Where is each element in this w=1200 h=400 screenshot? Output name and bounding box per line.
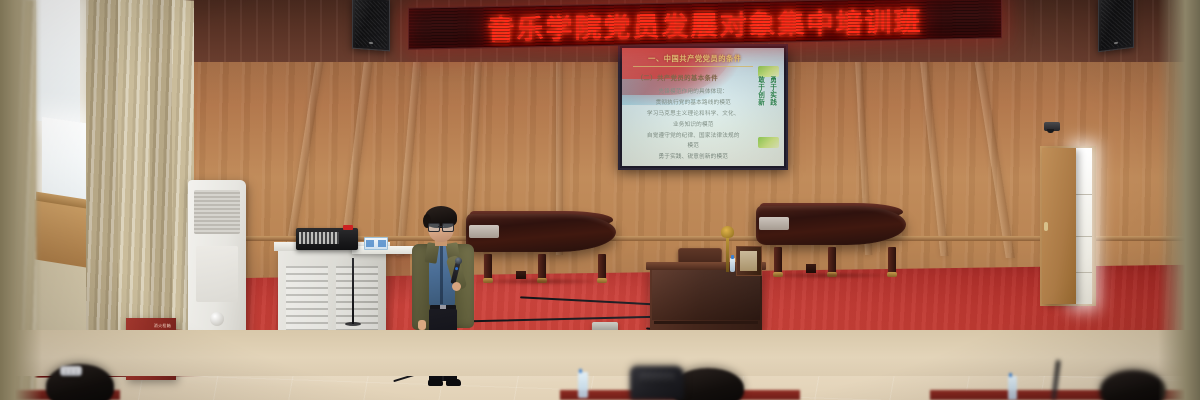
console-vent (286, 266, 328, 336)
audience-bag (630, 366, 684, 400)
speaker-mesh (355, 0, 387, 48)
presenter-hand-right (452, 282, 461, 291)
curtain-center-left (118, 0, 154, 338)
speaker-logo (369, 42, 373, 44)
piano-leg (888, 247, 896, 274)
slide-sheen (622, 48, 784, 166)
mixer-indicator (343, 225, 353, 230)
piano-leg (598, 254, 606, 280)
piano-leg (774, 247, 782, 274)
desk-flag-pole (726, 232, 729, 272)
presenter-shoe-right (446, 379, 461, 386)
water-bottle (730, 258, 735, 272)
desk-nameplate (736, 246, 762, 276)
front-wall-band (0, 330, 1200, 376)
ac-vent (194, 190, 240, 234)
stage-table (650, 268, 762, 330)
window-upper (36, 0, 80, 127)
fire-cabinet-text-1: 消火栓箱 (154, 323, 171, 329)
grand-piano-right (756, 206, 906, 274)
water-bottle-foreground-right (1008, 376, 1017, 400)
presenter-hand-left (418, 320, 426, 330)
mixer-controls (299, 232, 339, 244)
left-wall-wood-panel (34, 199, 94, 269)
piano-reflection (472, 278, 604, 285)
slide-content: 一、中国共产党党员的条件 （二）共产党员的基本条件 先锋模范作用的具体体现： 贯… (622, 48, 784, 166)
auditorium-photo: 音乐学院党员发展对象集中培训班 一、中国共产党党员的条件 （二）共产党员的基本条… (0, 0, 1200, 400)
door-handle[interactable] (1044, 222, 1048, 231)
grand-piano-left (466, 214, 616, 280)
wall-speaker-left (352, 0, 390, 51)
paper-cup-stack (364, 237, 388, 250)
glasses-icon (428, 223, 454, 230)
ac-panel (196, 246, 238, 302)
presenter-shoe-left (428, 379, 443, 386)
piano-keyboard-end (759, 217, 789, 231)
piano-leg (538, 254, 546, 280)
piano-leg (828, 247, 836, 274)
ac-dial-icon (210, 312, 224, 326)
mic-stand (352, 258, 354, 324)
projection-screen: 一、中国共产党党员的条件 （二）共产党员的基本条件 先锋模范作用的具体体现： 贯… (618, 44, 788, 170)
ceiling-camera-icon (1044, 122, 1060, 131)
table-skirt (652, 270, 760, 320)
water-bottle-foreground-left (578, 372, 588, 398)
table-rail (654, 321, 758, 324)
window-lower (42, 117, 86, 205)
mic-stand-base (345, 322, 361, 326)
audio-mixer (296, 228, 358, 250)
piano-leg (484, 254, 492, 280)
audience-desk-row (0, 386, 1200, 400)
desk-flag-ornament (721, 226, 734, 238)
wall-speaker-right (1098, 0, 1134, 52)
piano-reflection (762, 272, 894, 279)
door-opening-light (1076, 148, 1092, 304)
hair-clip (60, 366, 82, 376)
